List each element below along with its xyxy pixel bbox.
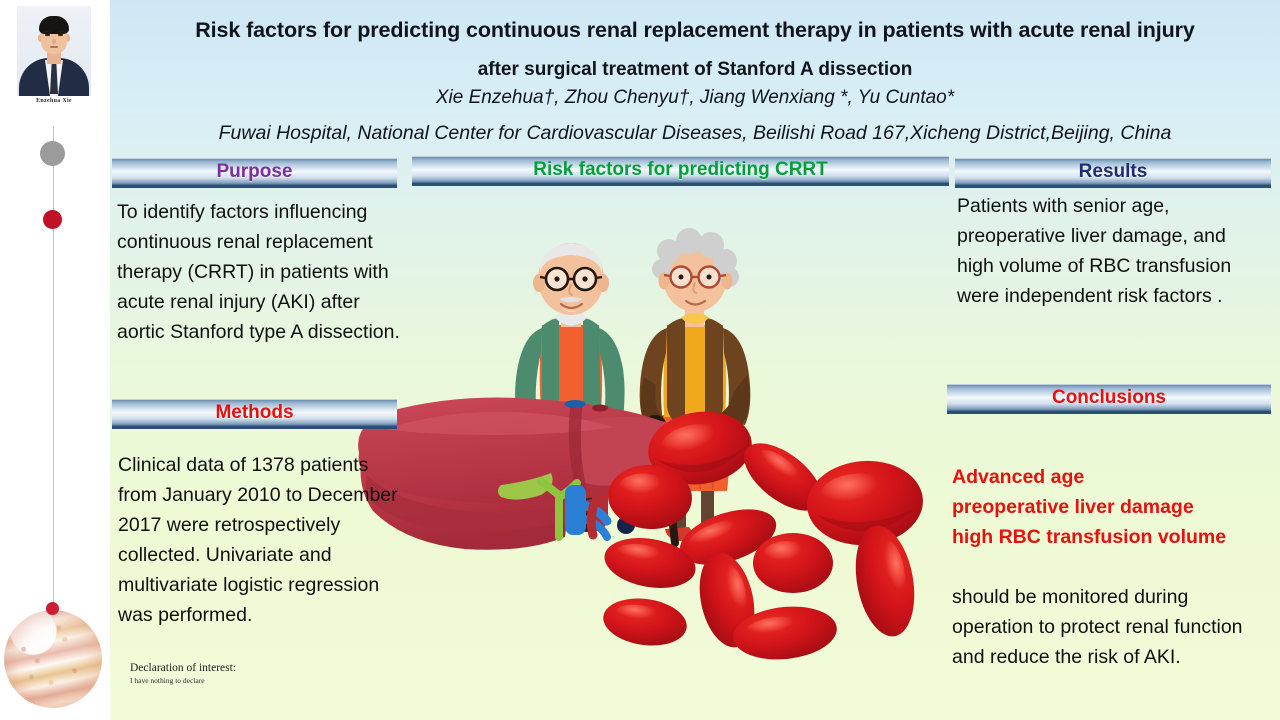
- portrait-photo: [17, 6, 91, 96]
- conclusions-highlight: Advanced age preoperative liver damage h…: [952, 462, 1262, 552]
- affiliation-text: Fuwai Hospital, National Center for Card…: [110, 122, 1280, 145]
- artwork-svg: [345, 185, 945, 675]
- timeline-dot-gray: [40, 141, 65, 166]
- timeline-line: [53, 126, 54, 646]
- section-header-results-label: Results: [1079, 162, 1148, 181]
- section-header-conclusions-label: Conclusions: [1052, 388, 1166, 407]
- section-header-purpose: Purpose: [112, 158, 397, 188]
- purpose-body-text: To identify factors influencing continuo…: [117, 197, 405, 347]
- conclusions-rest: should be monitored during operation to …: [952, 582, 1262, 672]
- section-header-conclusions: Conclusions: [947, 384, 1271, 414]
- section-header-results: Results: [955, 158, 1271, 188]
- section-header-purpose-label: Purpose: [216, 162, 292, 181]
- declaration-title: Declaration of interest:: [130, 662, 236, 674]
- declaration-of-interest: Declaration of interest: I have nothing …: [130, 662, 236, 685]
- page-title-line1: Risk factors for predicting continuous r…: [110, 18, 1280, 43]
- timeline-dot-small-red: [46, 602, 59, 615]
- poster-canvas: Enzehua Xie Risk factors for predicting …: [0, 0, 1280, 720]
- section-header-methods-label: Methods: [215, 403, 293, 422]
- central-artwork: [345, 185, 945, 675]
- conclusions-body-text: Advanced age preoperative liver damage h…: [952, 432, 1262, 702]
- watercolor-planet-speckle: [4, 610, 102, 708]
- section-header-risk-factors: Risk factors for predicting CRRT: [412, 156, 949, 186]
- left-sidebar: Enzehua Xie: [0, 0, 110, 720]
- methods-body-text: Clinical data of 1378 patients from Janu…: [118, 450, 408, 630]
- photo-caption: Enzehua Xie: [0, 98, 108, 104]
- rbc: [600, 593, 690, 650]
- rbc: [753, 533, 833, 593]
- results-body-text: Patients with senior age, preoperative l…: [957, 191, 1262, 311]
- poster-header: Risk factors for predicting continuous r…: [110, 0, 1280, 152]
- declaration-subtitle: I have nothing to declare: [130, 676, 236, 685]
- page-title-line2: after surgical treatment of Stanford A d…: [110, 59, 1280, 81]
- timeline-dot-red: [43, 210, 62, 229]
- section-header-risk-factors-label: Risk factors for predicting CRRT: [533, 160, 828, 179]
- author-list: Xie Enzehua†, Zhou Chenyu†, Jiang Wenxia…: [110, 87, 1280, 109]
- section-header-methods: Methods: [112, 399, 397, 429]
